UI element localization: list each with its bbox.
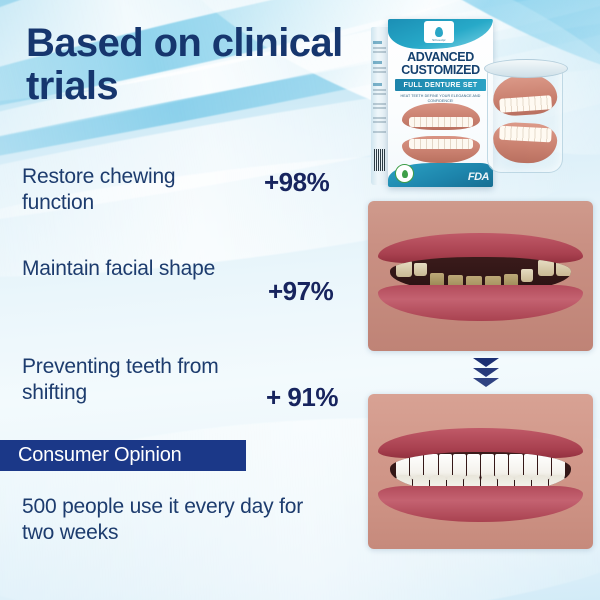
before-photo bbox=[368, 201, 593, 351]
benefit-label: Preventing teeth from shifting bbox=[22, 354, 250, 405]
consumer-opinion-text: 500 people use it every day for two week… bbox=[22, 494, 334, 547]
benefit-label: Restore chewing function bbox=[22, 164, 250, 215]
advertisement-poster: Based on clinical trials Restore chewing… bbox=[0, 0, 600, 600]
down-arrow-icon bbox=[470, 358, 502, 394]
benefit-value: +98% bbox=[264, 167, 329, 198]
denture-model-lower bbox=[492, 121, 558, 164]
benefit-value: + 91% bbox=[266, 382, 338, 413]
after-photo bbox=[368, 394, 593, 549]
page-title: Based on clinical trials bbox=[26, 22, 366, 108]
consumer-opinion-banner: Consumer Opinion bbox=[0, 440, 246, 471]
benefit-label: Maintain facial shape bbox=[22, 256, 250, 282]
benefit-row: Preventing teeth from shifting + 91% bbox=[22, 344, 352, 407]
benefits-list: Restore chewing function +98% Maintain f… bbox=[22, 164, 352, 434]
denture-teeth bbox=[409, 139, 473, 149]
denture-model bbox=[493, 75, 557, 163]
benefit-row: Maintain facial shape +97% bbox=[22, 254, 352, 317]
benefit-row: Restore chewing function +98% bbox=[22, 164, 352, 227]
mouth-before bbox=[378, 233, 583, 321]
product-package: Sthoedpr ADVANCED CUSTOMIZED FULL DENTUR… bbox=[371, 19, 493, 187]
lower-lip bbox=[378, 285, 583, 321]
brand-name: Sthoedpr bbox=[424, 38, 454, 42]
package-title-line2: CUSTOMIZED bbox=[388, 64, 493, 77]
mouth-after bbox=[378, 428, 583, 522]
fda-label: FDA bbox=[468, 171, 489, 183]
denture-illustration bbox=[402, 103, 480, 163]
denture-teeth bbox=[409, 117, 473, 127]
barcode-icon bbox=[374, 149, 385, 171]
tooth-icon bbox=[435, 27, 443, 37]
package-denture-photo bbox=[388, 97, 493, 167]
denture-upper bbox=[402, 103, 480, 130]
package-front-panel: Sthoedpr ADVANCED CUSTOMIZED FULL DENTUR… bbox=[388, 19, 493, 187]
package-side-panel bbox=[371, 27, 388, 185]
brand-logo: Sthoedpr bbox=[424, 21, 454, 43]
denture-case bbox=[487, 63, 563, 173]
package-badge-label: FULL DENTURE SET bbox=[404, 82, 478, 89]
package-title-line1: ADVANCED bbox=[388, 51, 493, 64]
denture-case-lid bbox=[484, 59, 568, 78]
quality-seal-icon bbox=[395, 164, 414, 183]
benefit-value: +97% bbox=[268, 276, 333, 307]
denture-model-upper bbox=[492, 73, 559, 117]
denture-lower bbox=[402, 136, 480, 163]
lower-lip bbox=[378, 486, 583, 522]
package-badge: FULL DENTURE SET bbox=[395, 79, 486, 91]
package-title: ADVANCED CUSTOMIZED bbox=[388, 51, 493, 77]
consumer-opinion-label: Consumer Opinion bbox=[0, 444, 182, 467]
